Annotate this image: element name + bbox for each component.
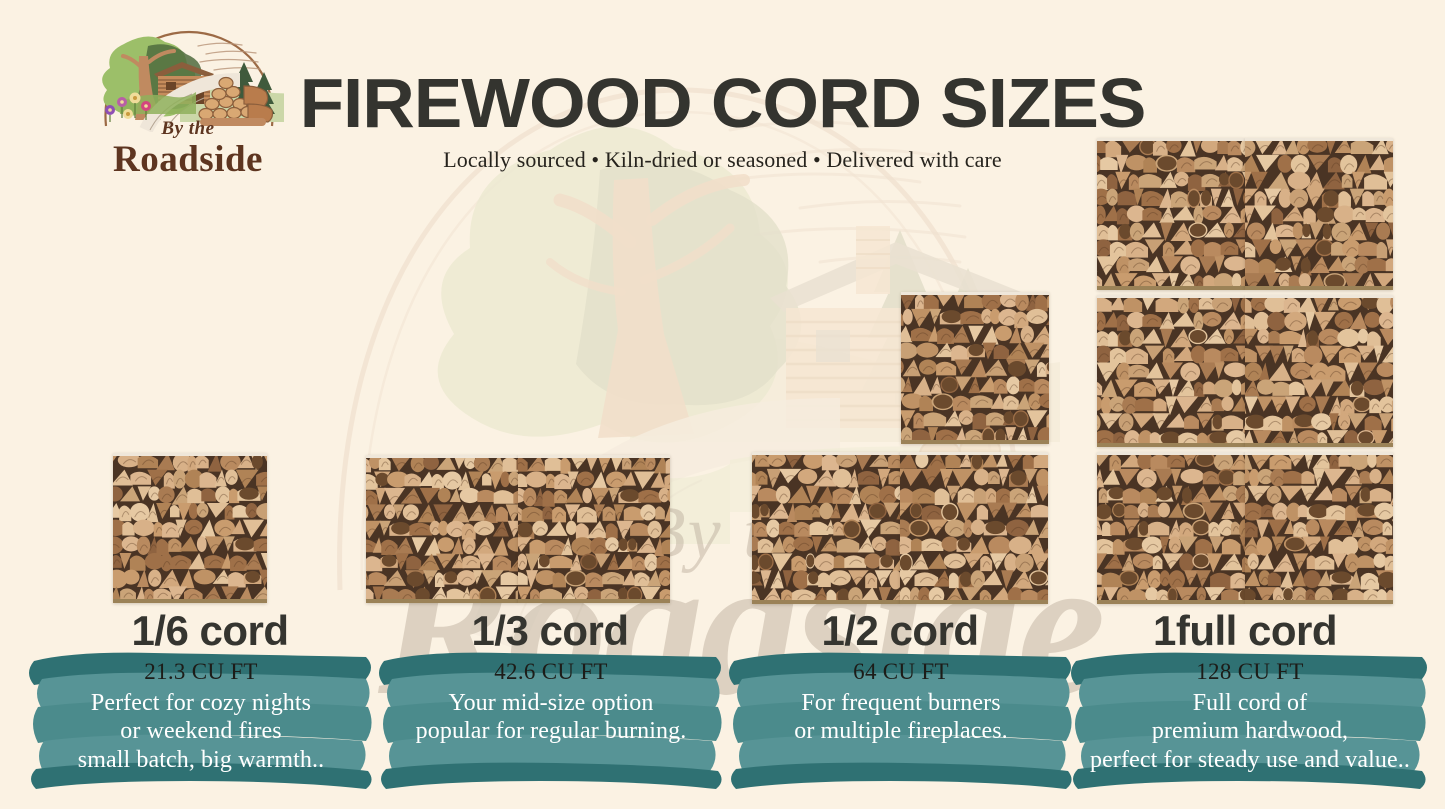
description-full: Full cord of premium hardwood, perfect f…: [1090, 689, 1410, 774]
volume-half: 64 CU FT: [853, 659, 949, 685]
volume-sixth: 21.3 CU FT: [144, 659, 258, 685]
wood-stack-half-top: [901, 292, 1049, 444]
wood-stack-half-2: [900, 452, 1048, 604]
volume-full: 128 CU FT: [1196, 659, 1304, 685]
wood-stack-full-r3c2: [1245, 452, 1393, 604]
caption-band-third: 42.6 CU FT Your mid-size option popular …: [378, 645, 724, 793]
wood-stack-full-r2c1: [1097, 295, 1245, 447]
wood-stack-full-r3c1: [1097, 452, 1245, 604]
wood-stack-full-r1c1: [1097, 138, 1245, 290]
description-half: For frequent burners or multiple firepla…: [794, 689, 1008, 746]
firewood-cord-sizes-poster: By the Roadside: [0, 0, 1445, 809]
page-title: FIREWOOD CORD SIZES: [0, 63, 1445, 143]
wood-stack-third-2: [518, 455, 670, 603]
caption-band-sixth: 21.3 CU FT Perfect for cozy nights or we…: [28, 645, 374, 793]
volume-third: 42.6 CU FT: [494, 659, 608, 685]
wood-stack-half-1: [752, 452, 900, 604]
caption-band-full: 128 CU FT Full cord of premium hardwood,…: [1070, 645, 1430, 793]
wood-stack-full-r1c2: [1245, 138, 1393, 290]
wood-stack-sixth-1: [113, 453, 267, 603]
wood-stack-third-1: [366, 455, 518, 603]
caption-band-half: 64 CU FT For frequent burners or multipl…: [728, 645, 1074, 793]
description-sixth: Perfect for cozy nights or weekend fires…: [78, 689, 324, 774]
wood-stack-full-r2c2: [1245, 295, 1393, 447]
description-third: Your mid-size option popular for regular…: [416, 689, 687, 746]
